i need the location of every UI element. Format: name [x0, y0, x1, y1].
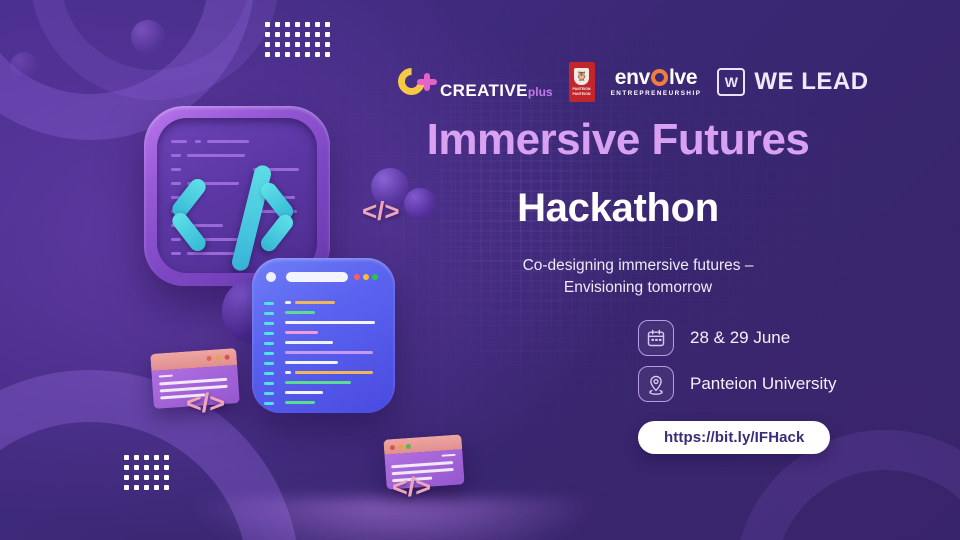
envolve-word-part2: lve — [669, 67, 697, 88]
mini-card-left-code-icon: </> — [186, 388, 225, 419]
poster-title-line-1: Immersive Futures — [398, 118, 838, 162]
we-lead-wordmark: WE LEAD — [754, 68, 868, 96]
editor-close-light — [354, 274, 360, 280]
event-venue-label: Panteion University — [690, 374, 836, 394]
code-card-right-angle-icon-2 — [258, 212, 296, 255]
logo-creative-plus: CREATIVE plus — [398, 65, 553, 99]
envolve-o-icon — [651, 69, 668, 86]
floating-code-icon: </> — [362, 196, 400, 227]
poster-title-line-2: Hackathon — [398, 188, 838, 228]
code-editor-window — [252, 258, 395, 413]
envolve-wordmark: env lve — [615, 67, 698, 88]
mini-card-right-code-icon: </> — [392, 472, 431, 503]
code-card-inner — [157, 118, 317, 273]
calendar-icon — [638, 320, 674, 356]
tagline-line-2: Envisioning tomorrow — [438, 277, 838, 299]
we-lead-mark-letter: W — [725, 75, 738, 89]
decor-sphere-far-left — [10, 52, 38, 80]
editor-address-bar — [286, 272, 348, 282]
panteion-shield-icon: 🦉 — [574, 68, 589, 85]
panteion-logo-text: PANTEION PANTEION — [573, 87, 591, 96]
logo-envolve: env lve ENTREPRENEURSHIP — [611, 67, 702, 97]
event-date-row: 28 & 29 June — [638, 320, 790, 356]
creative-plus-wordmark: CREATIVE — [440, 82, 528, 99]
editor-minimize-light — [363, 274, 369, 280]
poster-tagline: Co-designing immersive futures – Envisio… — [438, 255, 838, 300]
decor-floor-glow — [180, 498, 610, 540]
panteion-line-1: PANTEION — [573, 87, 591, 92]
editor-menu-dot — [266, 272, 276, 282]
envolve-word-part1: env — [615, 67, 650, 88]
creative-plus-suffix: plus — [528, 85, 553, 99]
logo-we-lead: W WE LEAD — [717, 68, 868, 96]
decor-dot-grid-bottom — [124, 455, 169, 490]
creative-plus-mark-icon — [398, 65, 440, 99]
sponsor-logo-strip: CREATIVE plus 🦉 PANTEION PANTEION env lv… — [398, 58, 869, 106]
map-pin-icon — [638, 366, 674, 402]
panteion-line-2: PANTEION — [573, 92, 591, 97]
registration-url-button[interactable]: https://bit.ly/IFHack — [638, 421, 830, 454]
panteion-owl-icon: 🦉 — [576, 72, 587, 81]
code-card-left-angle-icon-2 — [169, 210, 209, 255]
envolve-subtitle: ENTREPRENEURSHIP — [611, 90, 702, 97]
decor-sphere-top-left — [131, 20, 165, 54]
code-card-slash-icon — [230, 164, 273, 273]
event-venue-row: Panteion University — [638, 366, 836, 402]
hackathon-poster: </> </> </> CREATIVE plus — [0, 0, 960, 540]
we-lead-mark-icon: W — [717, 68, 745, 96]
editor-maximize-light — [372, 274, 378, 280]
event-date-label: 28 & 29 June — [690, 328, 790, 348]
decor-dot-grid-top — [265, 22, 330, 57]
logo-panteion-university: 🦉 PANTEION PANTEION — [569, 62, 595, 102]
tagline-line-1: Co-designing immersive futures – — [438, 255, 838, 277]
